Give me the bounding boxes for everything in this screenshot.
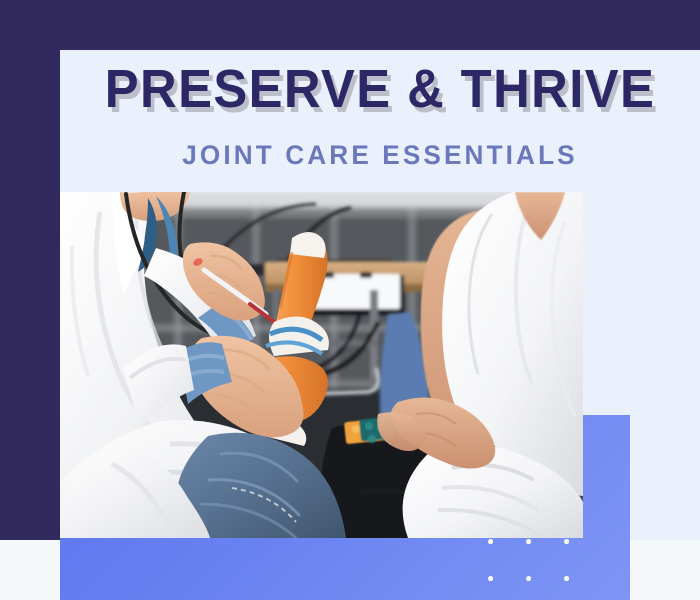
hero-photo-illustration (60, 192, 583, 538)
page-subtitle: JOINT CARE ESSENTIALS (70, 140, 691, 171)
top-purple-band (0, 0, 700, 50)
page-title-wrapper: PRESERVE & THRIVE (60, 62, 700, 116)
page-title: PRESERVE & THRIVE (79, 62, 681, 116)
poster-canvas: PRESERVE & THRIVE JOINT CARE ESSENTIALS (0, 0, 700, 600)
left-purple-bar (0, 0, 60, 540)
hero-photo (60, 192, 583, 538)
